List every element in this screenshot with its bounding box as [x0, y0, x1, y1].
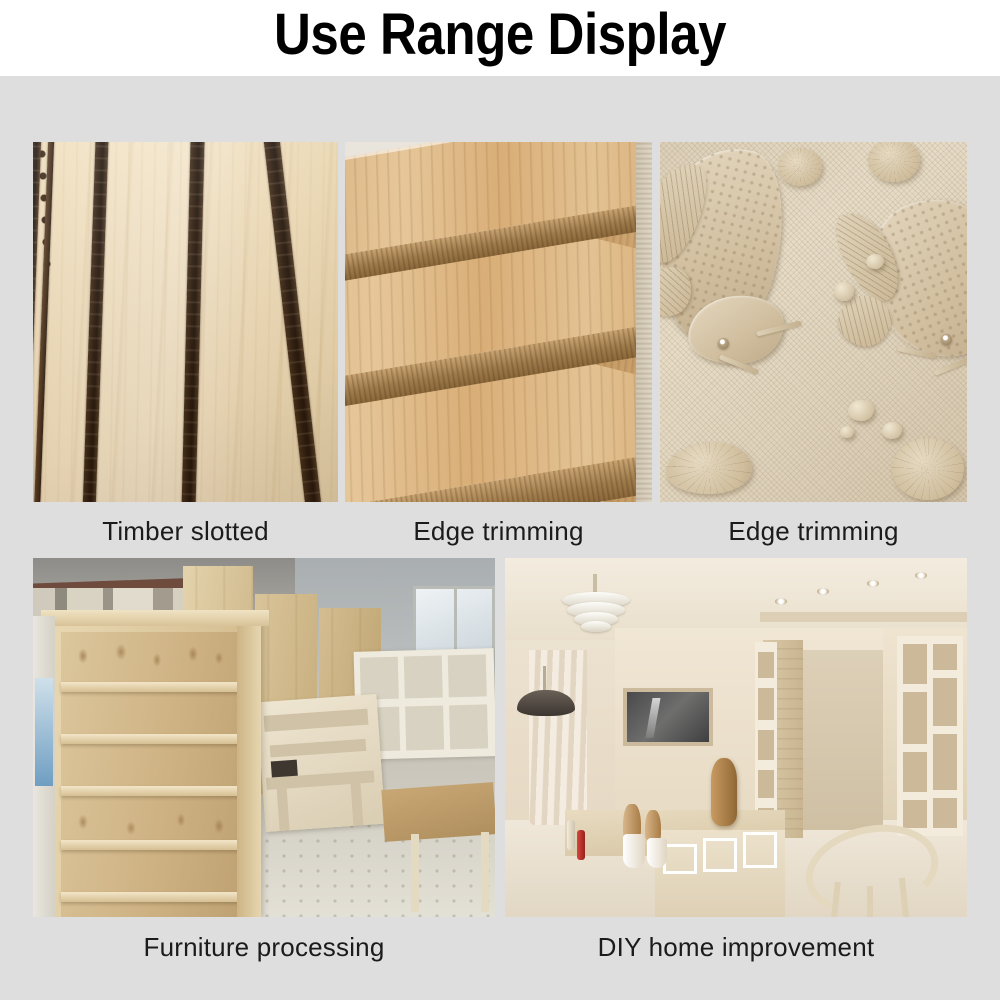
page-title: Use Range Display: [60, 4, 940, 66]
photo-beige-living-room: [505, 558, 967, 917]
caption-diy-home-improvement: DIY home improvement: [505, 930, 967, 964]
poster-page: Use Range Display: [0, 0, 1000, 1000]
caption-edge-trimming-carving: Edge trimming: [660, 514, 967, 548]
caption-edge-trimming-boards: Edge trimming: [345, 514, 652, 548]
gallery-image-edge-trimming-boards[interactable]: [345, 142, 652, 502]
caption-furniture-processing: Furniture processing: [33, 930, 495, 964]
gallery-image-edge-trimming-carving[interactable]: [660, 142, 967, 502]
gallery-row-top: [33, 142, 967, 502]
photo-stacked-plywood-boards: [345, 142, 652, 502]
gallery-row-bottom: [33, 558, 967, 917]
gallery-image-timber-slotted[interactable]: [33, 142, 338, 502]
header-band: Use Range Display: [0, 0, 1000, 76]
photo-woodworking-workshop: [33, 558, 495, 917]
caption-timber-slotted: Timber slotted: [33, 514, 338, 548]
gallery-image-furniture-processing[interactable]: [33, 558, 495, 917]
gallery-image-diy-home-improvement[interactable]: [505, 558, 967, 917]
photo-birch-plywood-slots: [33, 142, 338, 502]
photo-carved-koi-relief: [660, 142, 967, 502]
